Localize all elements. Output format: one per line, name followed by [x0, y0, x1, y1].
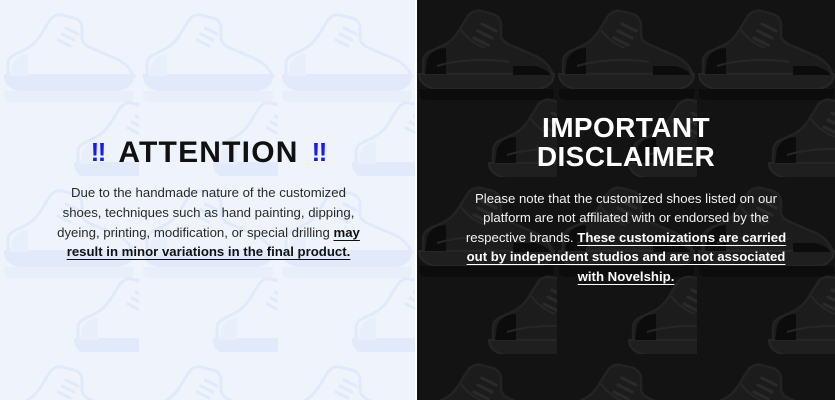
disclaimer-body: Please note that the customized shoes li…: [464, 189, 789, 287]
disclaimer-content: IMPORTANT DISCLAIMER Please note that th…: [417, 0, 835, 400]
attention-heading: ‼ ATTENTION ‼: [91, 138, 327, 168]
disclaimer-panel: IMPORTANT DISCLAIMER Please note that th…: [417, 0, 835, 400]
attention-body: Due to the handmade nature of the custom…: [54, 183, 364, 262]
attention-panel: ‼ ATTENTION ‼ Due to the handmade nature…: [0, 0, 417, 400]
double-exclamation-icon-right: ‼: [312, 139, 327, 165]
double-exclamation-icon-left: ‼: [91, 139, 106, 165]
attention-heading-text: ATTENTION: [118, 138, 298, 168]
disclaimer-heading-line-2: DISCLAIMER: [537, 143, 715, 172]
disclaimer-heading: IMPORTANT DISCLAIMER: [537, 114, 715, 172]
attention-content: ‼ ATTENTION ‼ Due to the handmade nature…: [0, 0, 417, 400]
attention-body-plain: Due to the handmade nature of the custom…: [57, 185, 354, 240]
customization-disclaimer-banner: ‼ ATTENTION ‼ Due to the handmade nature…: [0, 0, 835, 400]
disclaimer-heading-line-1: IMPORTANT: [537, 114, 715, 143]
